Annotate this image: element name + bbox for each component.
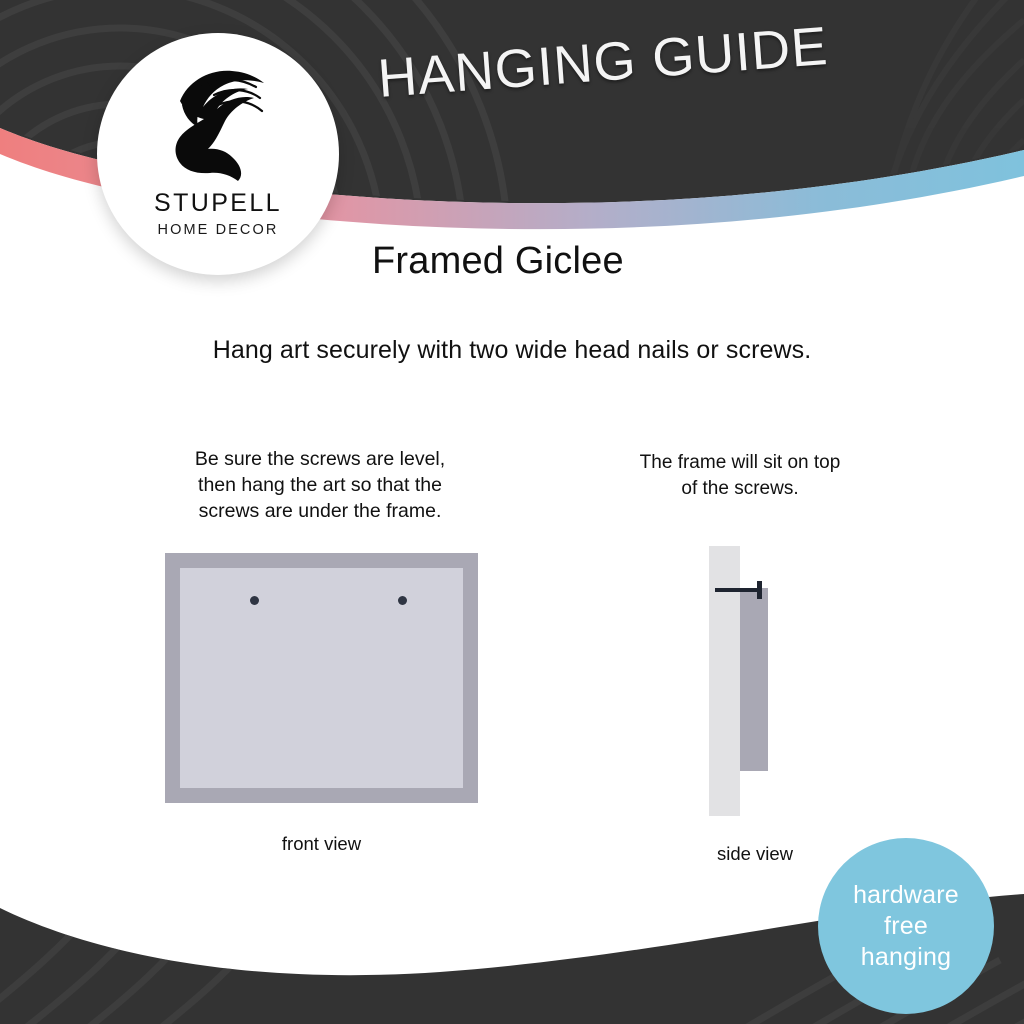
badge-line-2: free bbox=[884, 911, 928, 942]
frame-mat bbox=[180, 568, 463, 788]
frame-profile-bar bbox=[740, 588, 768, 771]
badge-line-1: hardware bbox=[853, 880, 959, 911]
badge-line-3: hanging bbox=[861, 942, 951, 973]
product-type-title: Framed Giclee bbox=[372, 240, 624, 283]
front-view-caption-line-1: Be sure the screws are level, bbox=[160, 446, 480, 472]
front-view-label: front view bbox=[165, 833, 478, 855]
hanging-guide-page: HANGING GUIDE STUPELL HOME DECOR Framed … bbox=[0, 0, 1024, 1024]
nail-head-icon bbox=[757, 581, 762, 599]
brand-logo-badge: STUPELL HOME DECOR bbox=[97, 33, 339, 275]
screw-dot-left-icon bbox=[250, 596, 259, 605]
side-view-caption: The frame will sit on top of the screws. bbox=[590, 450, 890, 502]
side-view-caption-line-2: of the screws. bbox=[590, 476, 890, 502]
screw-dot-right-icon bbox=[398, 596, 407, 605]
front-view-caption-line-3: screws are under the frame. bbox=[160, 498, 480, 524]
hardware-free-hanging-badge: hardware free hanging bbox=[818, 838, 994, 1014]
wall-bar bbox=[709, 546, 740, 816]
side-view-label: side view bbox=[660, 843, 850, 865]
front-view-diagram bbox=[165, 553, 478, 803]
front-view-caption-line-2: then hang the art so that the bbox=[160, 472, 480, 498]
stupell-swoosh-icon bbox=[158, 55, 278, 187]
instruction-lede: Hang art securely with two wide head nai… bbox=[0, 336, 1024, 365]
brand-tagline: HOME DECOR bbox=[158, 222, 279, 238]
front-view-caption: Be sure the screws are level, then hang … bbox=[160, 446, 480, 524]
brand-wordmark: STUPELL bbox=[154, 189, 282, 218]
side-view-caption-line-1: The frame will sit on top bbox=[590, 450, 890, 476]
side-view-diagram bbox=[700, 543, 810, 818]
nail-shaft-icon bbox=[715, 588, 762, 592]
